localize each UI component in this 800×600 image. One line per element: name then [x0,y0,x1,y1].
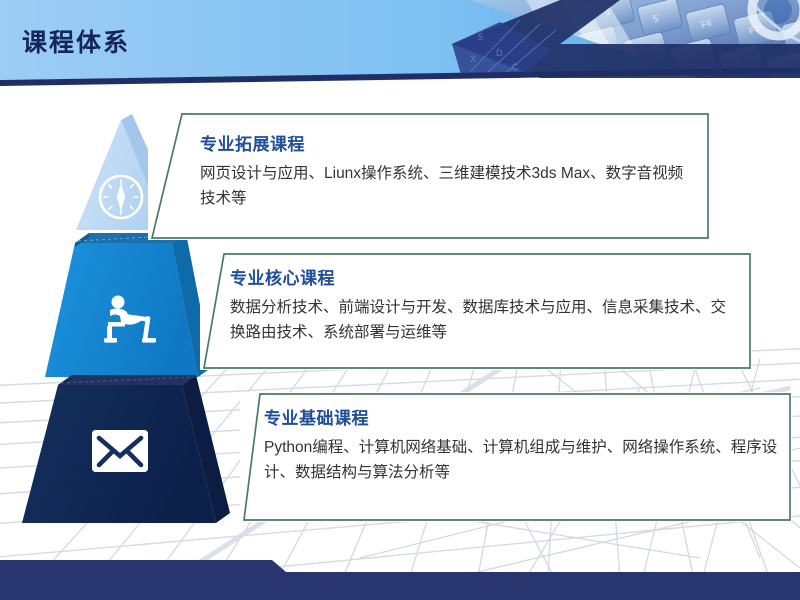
slide-canvas: 4 5 F6 F7 R T 6 7 [0,0,800,600]
course-card-foundation: 专业基础课程 Python编程、计算机网络基础、计算机组成与维护、网络操作系统、… [240,392,792,522]
card-body: 数据分析技术、前端设计与开发、数据库技术与应用、信息采集技术、交换路由技术、系统… [230,295,735,345]
svg-text:X: X [470,54,476,64]
card-title: 专业核心课程 [230,264,735,289]
svg-text:C: C [512,62,519,72]
pyramid-tier-3 [22,375,230,523]
course-card-core: 专业核心课程 数据分析技术、前端设计与开发、数据库技术与应用、信息采集技术、交换… [200,252,752,370]
card-title: 专业基础课程 [264,404,784,429]
footer-bar [0,540,800,600]
card-body: Python编程、计算机网络基础、计算机组成与维护、网络操作系统、程序设计、数据… [264,435,784,485]
card-title: 专业拓展课程 [200,130,690,155]
svg-text:D: D [496,48,503,58]
page-title: 课程体系 [22,23,130,59]
svg-text:5: 5 [478,32,483,42]
compass-icon [100,176,142,218]
slide-footer [0,540,800,600]
slide-header: 4 5 F6 F7 R T 6 7 [0,0,800,92]
envelope-icon [92,430,148,472]
pyramid-tier-2 [45,233,212,377]
course-card-extension: 专业拓展课程 网页设计与应用、Liunx操作系统、三维建模技术3ds Max、数… [148,112,710,240]
card-body: 网页设计与应用、Liunx操作系统、三维建模技术3ds Max、数字音视频技术等 [200,161,690,211]
